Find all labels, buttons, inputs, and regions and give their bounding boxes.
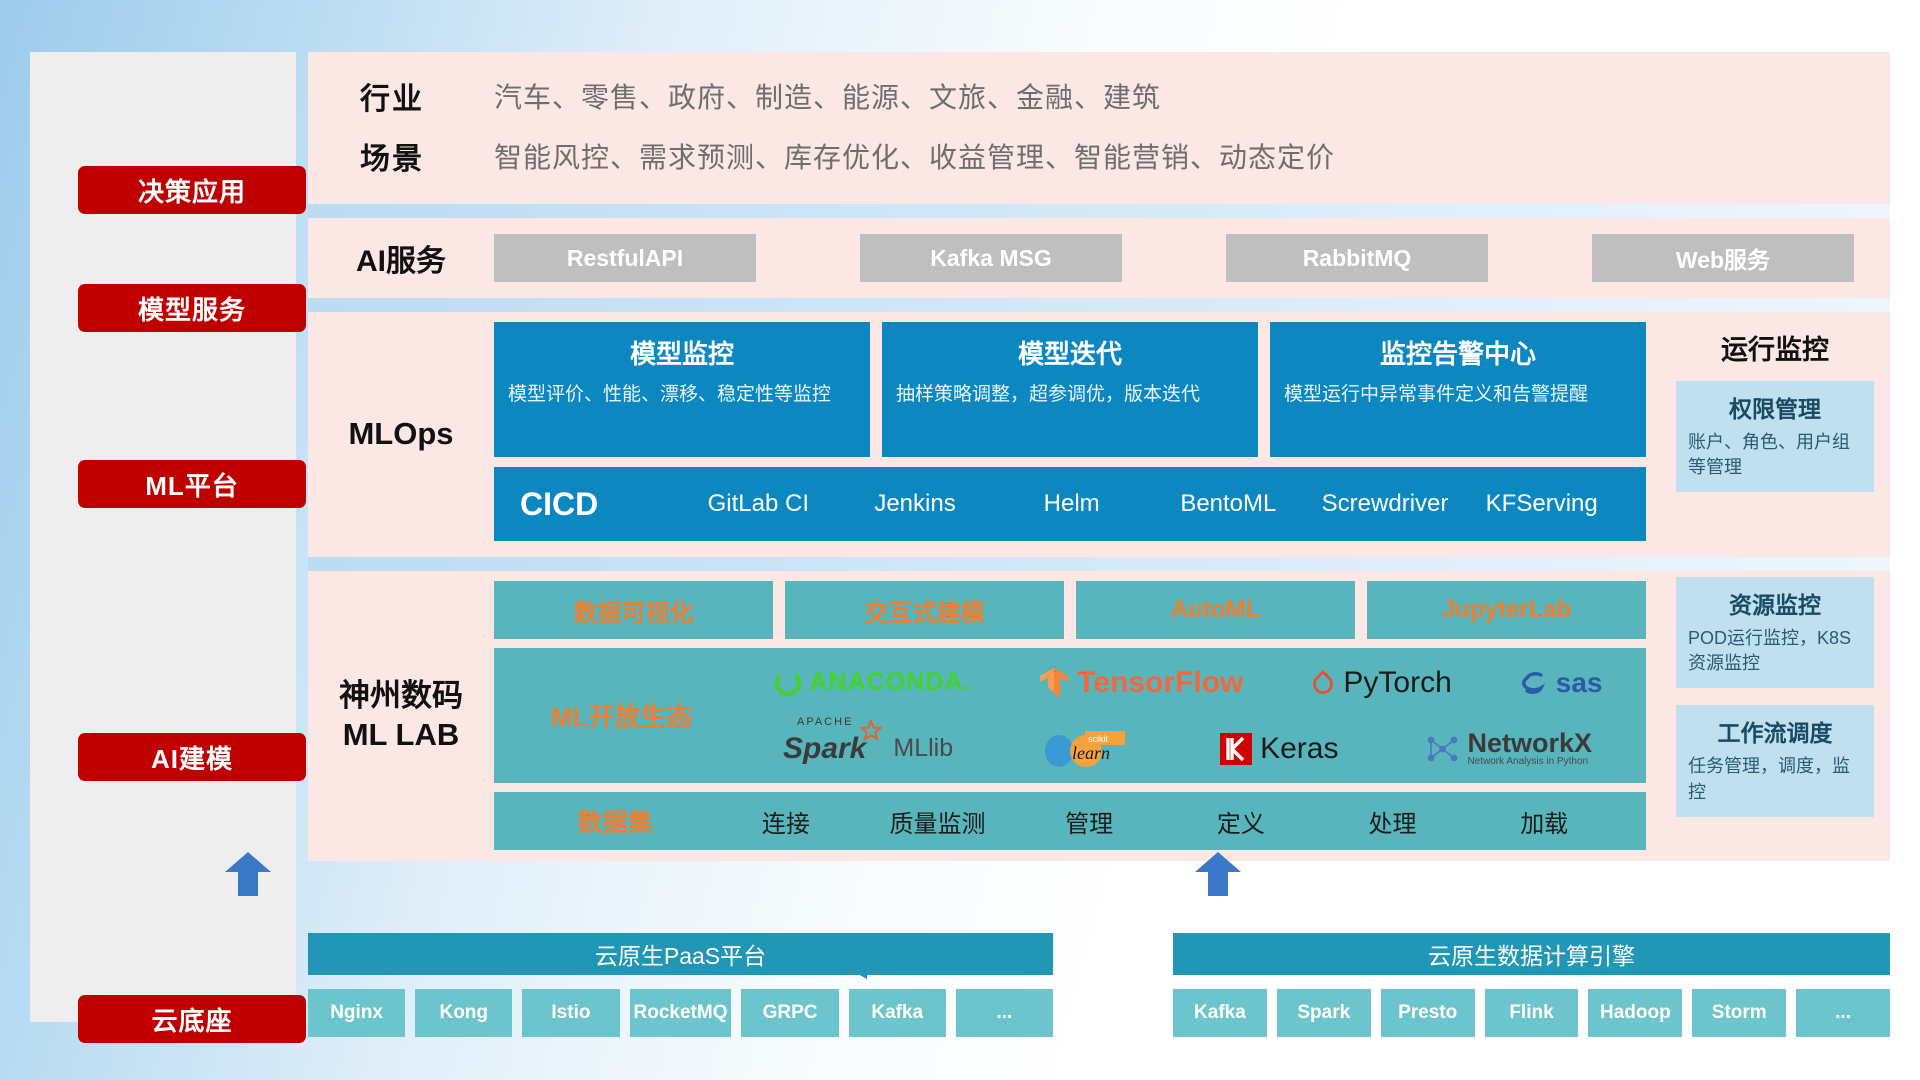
arrow-paas-up xyxy=(225,852,271,896)
rail-item-ml-platform[interactable]: ML平台 xyxy=(78,460,306,508)
anaconda-icon xyxy=(773,668,803,698)
monitor-column-top: 运行监控 权限管理 账户、角色、用户组等管理 xyxy=(1660,312,1890,557)
compute-tag-storm[interactable]: Storm xyxy=(1692,989,1786,1037)
rail-item-model-service[interactable]: 模型服务 xyxy=(78,284,306,332)
pytorch-logo: PyTorch xyxy=(1310,666,1451,700)
spark-star-icon xyxy=(860,720,882,742)
paas-tag-kong[interactable]: Kong xyxy=(415,989,512,1037)
sas-icon xyxy=(1519,669,1549,697)
cloud-base-section: 云原生PaaS平台 Nginx Kong Istio RocketMQ GRPC… xyxy=(308,905,1890,1035)
box-desc: 任务管理，调度，监控 xyxy=(1688,754,1862,804)
mlops-card-model-iteration[interactable]: 模型迭代 抽样策略调整，超参调优，版本迭代 xyxy=(882,322,1258,457)
card-title: 模型迭代 xyxy=(896,334,1244,371)
keras-label: Keras xyxy=(1260,732,1338,766)
anaconda-logo: ANACONDA. xyxy=(773,668,972,698)
rail-item-label: ML平台 xyxy=(145,466,239,503)
card-title: 监控告警中心 xyxy=(1284,334,1632,371)
ai-service-band: AI服务 RestfulAPI Kafka MSG RabbitMQ Web服务 xyxy=(308,218,1890,298)
ai-service-label: AI服务 xyxy=(308,236,494,280)
tool-interactive-modeling[interactable]: 交互式建模 xyxy=(785,581,1064,639)
industry-row: 行业 汽车、零售、政府、制造、能源、文旅、金融、建筑 xyxy=(338,74,1890,118)
dataset-item-define[interactable]: 定义 xyxy=(1165,804,1317,839)
band-divider xyxy=(308,557,1890,571)
service-chip-kafka[interactable]: Kafka MSG xyxy=(860,234,1122,282)
networkx-label: NetworkX xyxy=(1467,729,1592,757)
dataset-item-load[interactable]: 加载 xyxy=(1468,804,1620,839)
band-divider xyxy=(308,204,1890,218)
data-compute-engine-title: 云原生数据计算引擎 xyxy=(1173,933,1890,975)
networkx-logo: NetworkX Network Analysis in Python xyxy=(1426,729,1592,768)
tool-automl[interactable]: AutoML xyxy=(1076,581,1355,639)
card-desc: 模型运行中异常事件定义和告警提醒 xyxy=(1284,381,1632,409)
pytorch-label: PyTorch xyxy=(1343,666,1451,700)
paas-tag-grpc[interactable]: GRPC xyxy=(741,989,838,1037)
cicd-row: CICD GitLab CI Jenkins Helm BentoML Scre… xyxy=(494,467,1646,541)
scikit-learn-logo: scikit learn xyxy=(1041,729,1131,769)
card-desc: 抽样策略调整，超参调优，版本迭代 xyxy=(896,381,1244,409)
dataset-item-quality[interactable]: 质量监测 xyxy=(862,804,1014,839)
compute-tag-kafka[interactable]: Kafka xyxy=(1173,989,1267,1037)
tensorflow-icon xyxy=(1038,666,1070,700)
compute-tag-hadoop[interactable]: Hadoop xyxy=(1588,989,1682,1037)
anaconda-label: ANACONDA. xyxy=(810,668,972,697)
architecture-stack: 行业 汽车、零售、政府、制造、能源、文旅、金融、建筑 场景 智能风控、需求预测、… xyxy=(308,52,1890,861)
dataset-label: 数据集 xyxy=(520,803,710,839)
rail-item-ai-modeling[interactable]: AI建模 xyxy=(78,733,306,781)
dataset-item-manage[interactable]: 管理 xyxy=(1013,804,1165,839)
tool-jupyterlab[interactable]: JupyterLab xyxy=(1367,581,1646,639)
monitor-box-workflow[interactable]: 工作流调度 任务管理，调度，监控 xyxy=(1676,705,1874,816)
service-chip-restful[interactable]: RestfulAPI xyxy=(494,234,756,282)
keras-icon xyxy=(1219,732,1253,766)
box-desc: POD运行监控，K8S资源监控 xyxy=(1688,626,1862,676)
mlops-label: MLOps xyxy=(308,312,494,557)
service-chip-web[interactable]: Web服务 xyxy=(1592,234,1854,282)
mlops-card-model-monitoring[interactable]: 模型监控 模型评价、性能、漂移、稳定性等监控 xyxy=(494,322,870,457)
paas-platform-group: 云原生PaaS平台 Nginx Kong Istio RocketMQ GRPC… xyxy=(308,933,1053,1037)
ml-lab-label-line2: ML LAB xyxy=(339,716,463,755)
mlops-band: MLOps 模型监控 模型评价、性能、漂移、稳定性等监控 模型迭代 抽样策略调整… xyxy=(308,312,1890,557)
service-chip-rabbitmq[interactable]: RabbitMQ xyxy=(1226,234,1488,282)
paas-tag-rocketmq[interactable]: RocketMQ xyxy=(630,989,732,1037)
cicd-item-gitlab[interactable]: GitLab CI xyxy=(680,490,837,518)
spark-mllib-logo: APACHE Spark MLlib xyxy=(783,732,953,766)
ml-lab-label-line1: 神州数码 xyxy=(339,677,463,716)
paas-tag-nginx[interactable]: Nginx xyxy=(308,989,405,1037)
paas-tag-kafka[interactable]: Kafka xyxy=(849,989,946,1037)
application-band: 行业 汽车、零售、政府、制造、能源、文旅、金融、建筑 场景 智能风控、需求预测、… xyxy=(308,52,1890,204)
monitor-column-title: 运行监控 xyxy=(1676,312,1874,381)
mlops-card-alert-center[interactable]: 监控告警中心 模型运行中异常事件定义和告警提醒 xyxy=(1270,322,1646,457)
rail-item-cloud-base[interactable]: 云底座 xyxy=(78,995,306,1043)
pytorch-icon xyxy=(1310,668,1336,698)
compute-tag-more[interactable]: ... xyxy=(1796,989,1890,1037)
paas-tag-more[interactable]: ... xyxy=(956,989,1053,1037)
dataset-item-process[interactable]: 处理 xyxy=(1317,804,1469,839)
compute-tag-presto[interactable]: Presto xyxy=(1381,989,1475,1037)
svg-text:learn: learn xyxy=(1072,743,1110,763)
card-title: 模型监控 xyxy=(508,334,856,371)
dataset-row: 数据集 连接 质量监测 管理 定义 处理 加载 xyxy=(494,792,1646,850)
ml-lab-label: 神州数码 ML LAB xyxy=(308,571,494,861)
compute-tag-flink[interactable]: Flink xyxy=(1485,989,1579,1037)
rail-item-label: 模型服务 xyxy=(138,290,246,327)
arrow-compute-up xyxy=(1195,852,1241,896)
ml-lab-band: 神州数码 ML LAB 数据可视化 交互式建模 AutoML JupyterLa… xyxy=(308,571,1890,861)
cicd-item-jenkins[interactable]: Jenkins xyxy=(837,490,994,518)
paas-platform-title: 云原生PaaS平台 xyxy=(308,933,1053,975)
industry-values: 汽车、零售、政府、制造、能源、文旅、金融、建筑 xyxy=(494,76,1161,116)
scenario-label: 场景 xyxy=(338,134,494,178)
cicd-item-screwdriver[interactable]: Screwdriver xyxy=(1307,490,1464,518)
networkx-sublabel: Network Analysis in Python xyxy=(1467,757,1592,768)
monitor-column-bottom: 资源监控 POD运行监控，K8S资源监控 工作流调度 任务管理，调度，监控 xyxy=(1660,571,1890,861)
monitor-box-permission[interactable]: 权限管理 账户、角色、用户组等管理 xyxy=(1676,381,1874,492)
networkx-icon xyxy=(1426,734,1460,764)
box-title: 工作流调度 xyxy=(1688,714,1862,748)
card-desc: 模型评价、性能、漂移、稳定性等监控 xyxy=(508,381,856,409)
cicd-item-bentoml[interactable]: BentoML xyxy=(1150,490,1307,518)
scenario-row: 场景 智能风控、需求预测、库存优化、收益管理、智能营销、动态定价 xyxy=(338,134,1890,178)
scikit-learn-icon: scikit learn xyxy=(1041,729,1131,769)
sas-logo: sas xyxy=(1519,667,1603,699)
monitor-box-resource[interactable]: 资源监控 POD运行监控，K8S资源监控 xyxy=(1676,577,1874,688)
industry-label: 行业 xyxy=(338,74,494,118)
spark-wordmark: Spark xyxy=(783,732,866,765)
tensorflow-label: TensorFlow xyxy=(1077,666,1243,700)
paas-tag-istio[interactable]: Istio xyxy=(522,989,619,1037)
keras-logo: Keras xyxy=(1219,732,1338,766)
box-title: 权限管理 xyxy=(1688,390,1862,424)
rail-item-decision-app[interactable]: 决策应用 xyxy=(78,166,306,214)
box-desc: 账户、角色、用户组等管理 xyxy=(1688,430,1862,480)
spark-apache-label: APACHE xyxy=(797,716,853,728)
tool-data-visualization[interactable]: 数据可视化 xyxy=(494,581,773,639)
mllib-label: MLlib xyxy=(893,734,953,763)
rail-item-label: 决策应用 xyxy=(138,172,246,209)
dataset-item-connect[interactable]: 连接 xyxy=(710,804,862,839)
cicd-item-kfserving[interactable]: KFServing xyxy=(1463,490,1620,518)
scenario-values: 智能风控、需求预测、库存优化、收益管理、智能营销、动态定价 xyxy=(494,136,1335,176)
box-title: 资源监控 xyxy=(1688,586,1862,620)
tensorflow-logo: TensorFlow xyxy=(1038,666,1243,700)
rail-item-label: AI建模 xyxy=(151,739,233,776)
band-divider xyxy=(308,298,1890,312)
ml-ecosystem-label: ML开放生态 xyxy=(504,697,739,734)
rail-item-label: 云底座 xyxy=(151,1001,232,1038)
sas-label: sas xyxy=(1556,667,1603,699)
data-compute-engine-group: 云原生数据计算引擎 Kafka Spark Presto Flink Hadoo… xyxy=(1173,933,1890,1037)
cicd-title: CICD xyxy=(520,486,680,523)
ml-ecosystem-row: ML开放生态 ANACONDA. xyxy=(494,648,1646,783)
compute-tag-spark[interactable]: Spark xyxy=(1277,989,1371,1037)
cicd-item-helm[interactable]: Helm xyxy=(993,490,1150,518)
